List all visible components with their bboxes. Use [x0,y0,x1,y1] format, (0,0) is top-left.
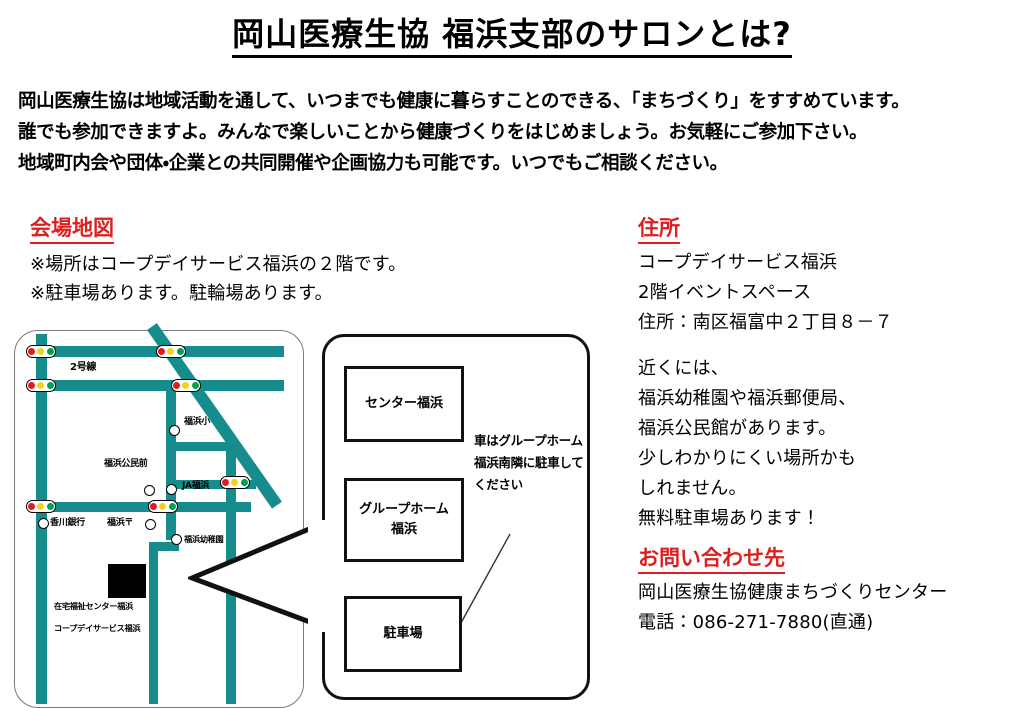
contact-heading-wrap: お問い合わせ先 [638,546,1018,574]
traffic-light-nw-mid [26,379,56,392]
poi-elementary-school [169,425,180,436]
map-note-2: ※駐車場あります。駐輪場あります。 [30,279,630,308]
contact-heading: お問い合わせ先 [638,546,785,574]
map-label-route2: 2号線 [70,363,96,373]
nearby-line-3: 福浜公民館があります。 [638,414,1018,444]
road-vertical-mid [149,542,158,704]
map-label-kindergarten: 福浜幼稚園 [184,535,223,543]
callout-box-parking-label: 駐車場 [383,624,422,644]
callout-box-group-home: グループホーム 福浜 [344,478,464,562]
map-label-elementary: 福浜小 [184,418,210,427]
poi-ja-a [144,485,155,496]
address-and-contact-section: 住所 コープデイサービス福浜 2階イベントスペース 住所：南区福富中２丁目８－７… [638,216,1018,638]
address-line-2: 2階イベントスペース [638,278,1018,308]
traffic-light-center [171,379,201,392]
page-title: 岡山医療生協 福浜支部のサロンとは? [0,14,1024,54]
address-lines: コープデイサービス福浜 2階イベントスペース 住所：南区福富中２丁目８－７ [638,248,1018,338]
intro-line-3: 地域町内会や団体・企業との共同開催や企画協力も可能です。いつでもご相談ください。 [18,148,1008,179]
road-horizontal-route2 [36,380,284,391]
venue-map: 2号線 福浜小 福浜公民前 JA福浜 香川銀行 福浜〒 福浜幼稚園 在宅福祉セン… [14,330,304,708]
traffic-light-east [220,476,250,489]
nearby-line-5: しれません。 [638,474,1018,504]
callout-box-group-home-line1: グループホーム [359,500,449,520]
map-label-post-office: 福浜〒 [107,519,133,528]
nearby-landmarks: 近くには、 福浜幼稚園や福浜郵便局、 福浜公民館があります。 少しわかりにくい場… [638,354,1018,534]
traffic-light-sw [26,500,56,513]
nearby-line-1: 近くには、 [638,354,1018,384]
callout-box-group-home-line2: 福浜 [391,520,417,540]
intro-line-2: 誰でも参加できますよ。みんなで楽しいことから健康づくりをはじめましょう。お気軽に… [18,117,1008,148]
traffic-light-ne-top [156,345,186,358]
intro-paragraph: 岡山医療生協は地域活動を通して、いつまでも健康に暮らすことのできる、「まちづくり… [18,86,1008,179]
traffic-light-south [148,500,178,513]
map-label-ja-fukuhama: JA福浜 [182,482,209,491]
traffic-light-nw-top [26,345,56,358]
venue-detail-callout: センター福浜 グループホーム 福浜 駐車場 車はグループホーム福浜南隣に駐車して… [322,334,590,700]
road-horizontal-south [36,502,251,512]
address-line-1: コープデイサービス福浜 [638,248,1018,278]
intro-line-1: 岡山医療生協は地域活動を通して、いつまでも健康に暮らすことのできる、「まちづくり… [18,86,1008,117]
poi-kindergarten [171,534,182,545]
map-section-heading: 会場地図 [30,216,114,244]
map-notes: ※場所はコープデイサービス福浜の２階です。 ※駐車場あります。駐輪場あります。 [30,250,630,308]
contact-organization: 岡山医療生協健康まちづくりセンター [638,578,1018,608]
venue-building-block [108,564,146,598]
address-heading: 住所 [638,216,680,244]
contact-phone: 電話：086-271-7880(直通) [638,608,1018,638]
callout-box-center: センター福浜 [344,366,464,442]
map-note-1: ※場所はコープデイサービス福浜の２階です。 [30,250,630,279]
spacer [638,338,1018,354]
poi-kagawa-bank [38,518,49,529]
map-label-kagawa-bank: 香川銀行 [50,519,85,528]
contact-details: 岡山医療生協健康まちづくりセンター 電話：086-271-7880(直通) [638,578,1018,638]
nearby-line-6: 無料駐車場あります！ [638,504,1018,534]
callout-box-parking: 駐車場 [344,596,462,672]
page-title-text: 岡山医療生協 福浜支部のサロンとは? [232,15,792,58]
poi-ja-b [166,484,177,495]
nearby-line-4: 少しわかりにくい場所かも [638,444,1018,474]
map-label-community-hall: 福浜公民前 [104,460,148,469]
map-label-welfare-center: 在宅福祉センター福浜 [54,602,133,610]
callout-parking-note: 車はグループホーム福浜南隣に駐車してください [474,430,586,496]
callout-box-center-label: センター福浜 [365,394,443,414]
road-vertical-center [166,388,176,540]
address-line-3: 住所：南区福富中２丁目８－７ [638,308,1018,338]
map-label-coop-day-service: コープデイサービス福浜 [54,624,140,632]
nearby-line-2: 福浜幼稚園や福浜郵便局、 [638,384,1018,414]
map-section: 会場地図 ※場所はコープデイサービス福浜の２階です。 ※駐車場あります。駐輪場あ… [30,216,630,308]
poi-post-office [145,519,156,530]
